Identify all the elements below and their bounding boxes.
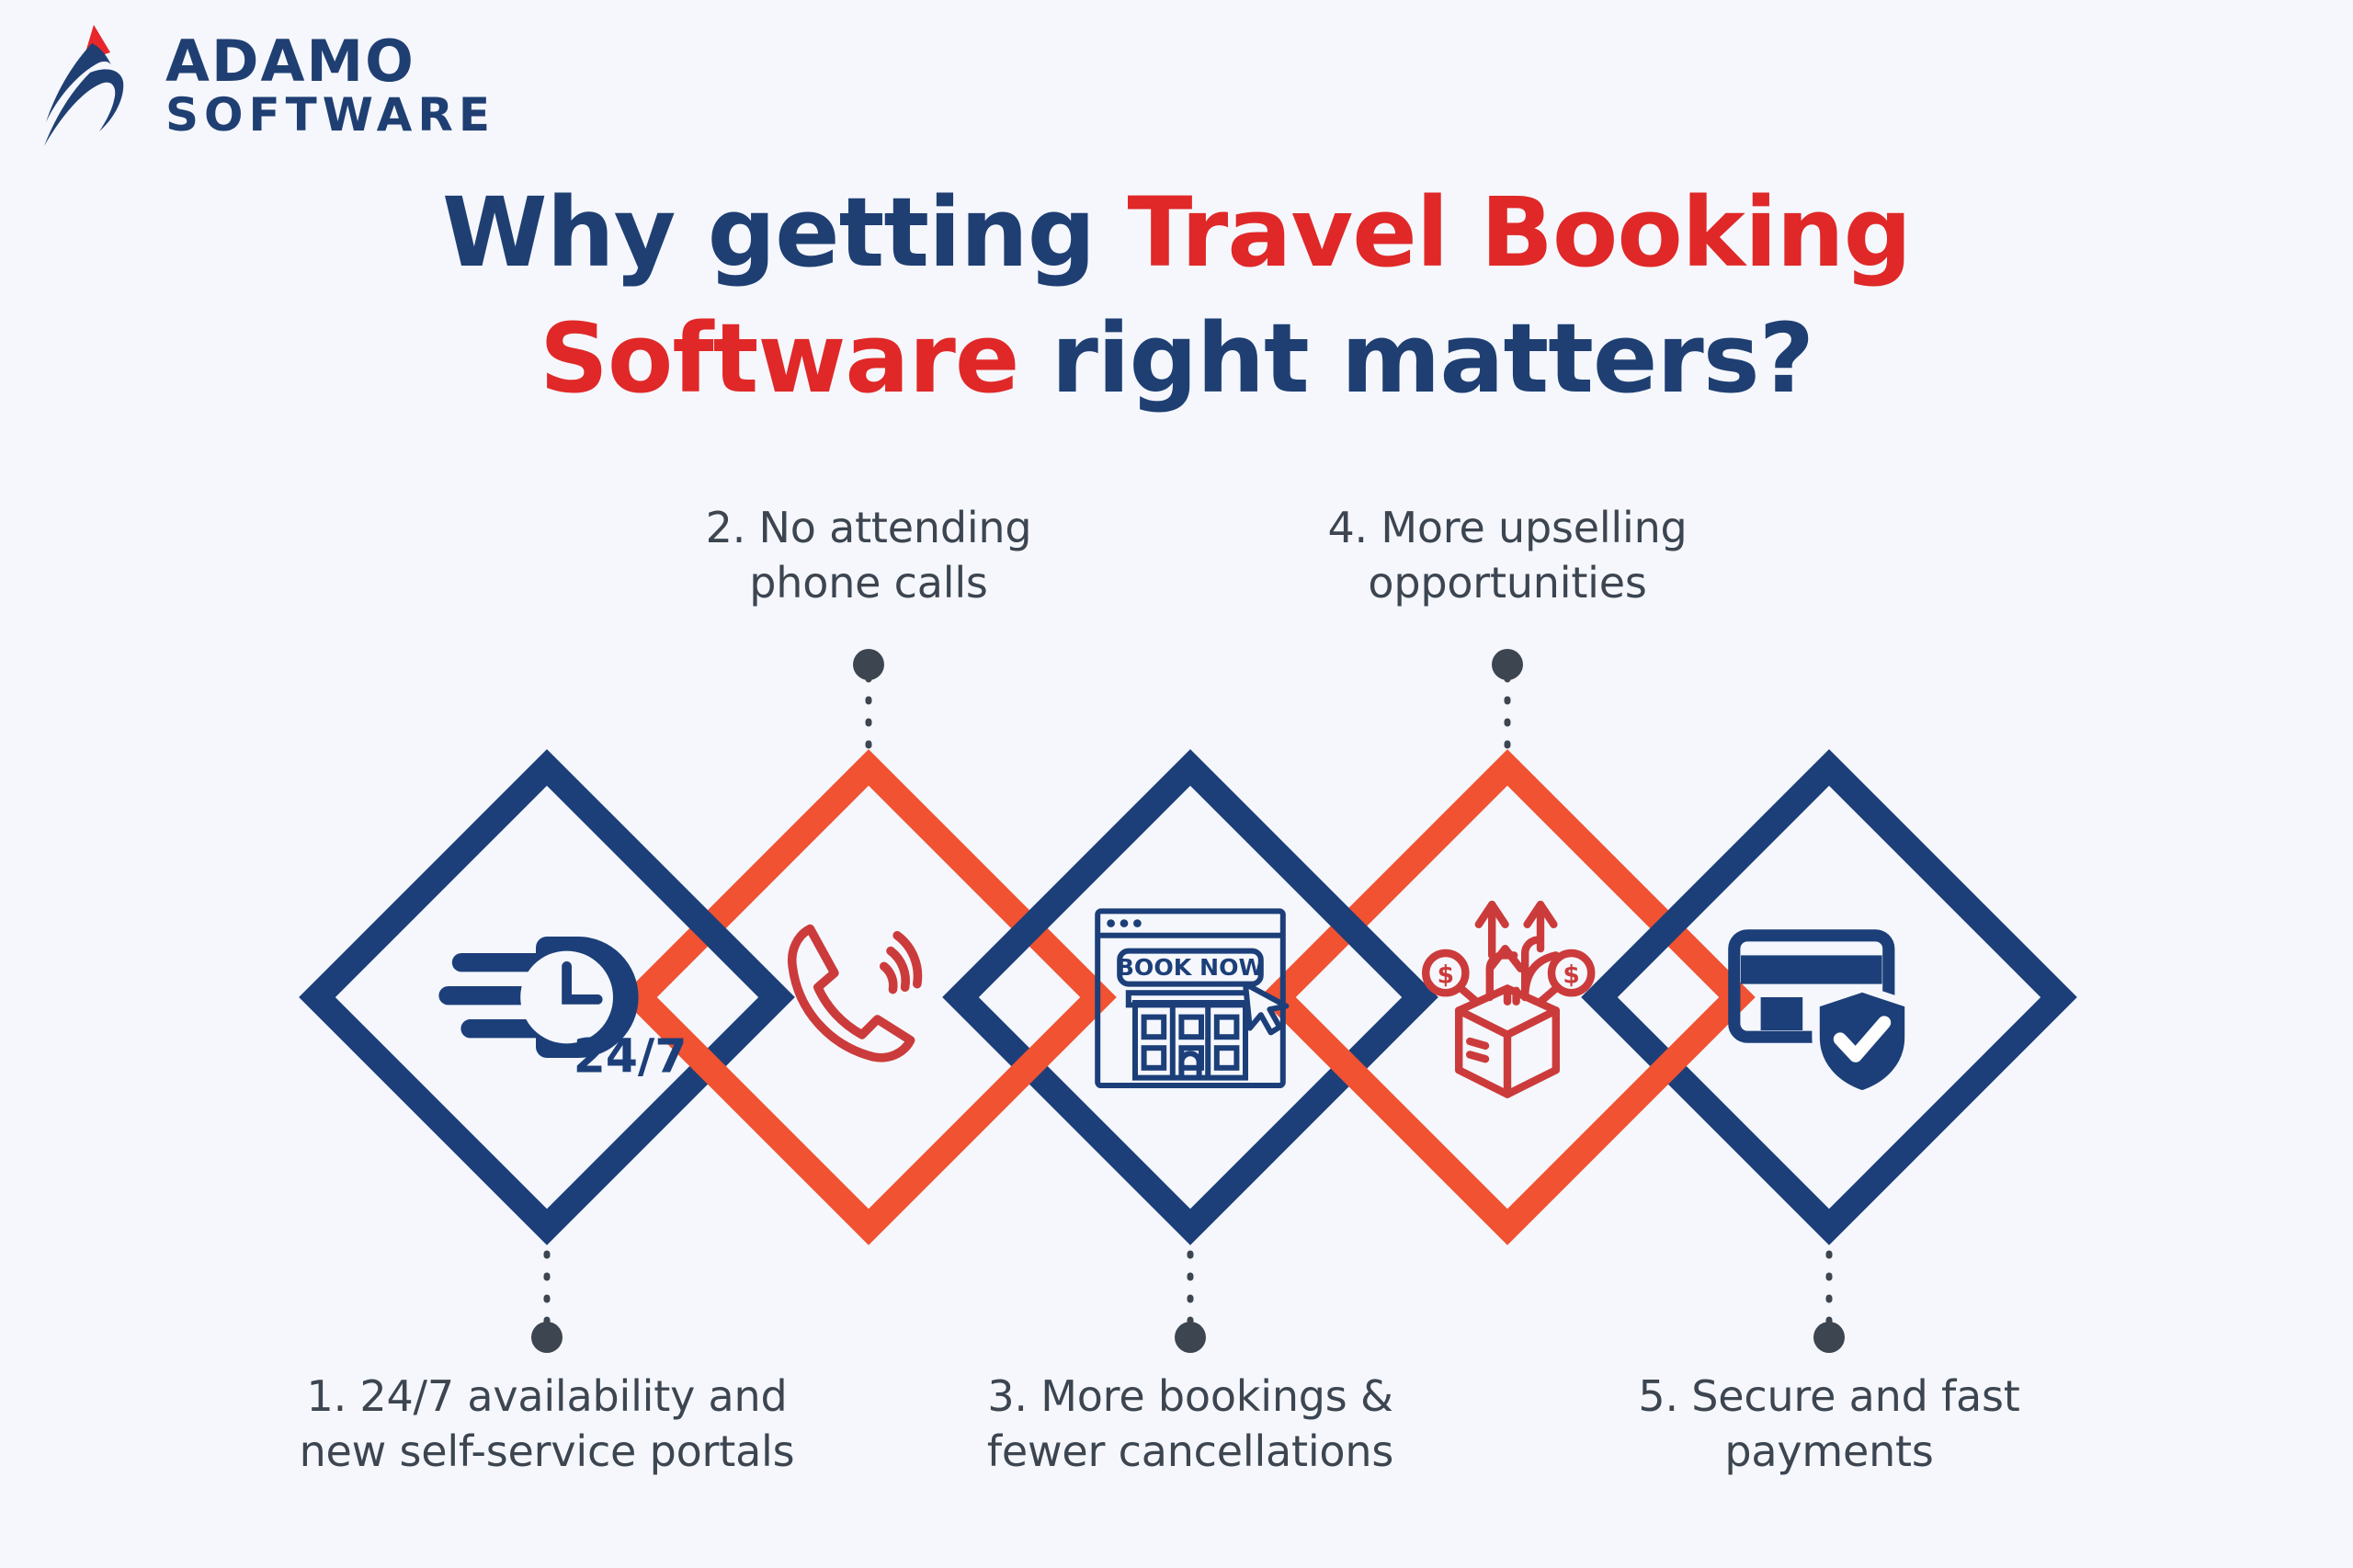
step-label-3-line1: 3. More bookings & [896, 1369, 1484, 1425]
logo-adamo-text: ADAMO [165, 33, 495, 90]
book-now-browser-icon: BOOK NOW [1080, 887, 1301, 1108]
step-label-4-line2: opportunities [1213, 556, 1802, 611]
title-part-4: right matters? [1018, 302, 1813, 415]
logo-software-text: SOFTWARE [165, 92, 495, 138]
step-label-4: 4. More upselling opportunities [1213, 501, 1802, 611]
title-part-1: Why getting [442, 176, 1128, 289]
step-label-2-line2: phone calls [574, 556, 1163, 611]
brand-logo: ADAMO SOFTWARE [37, 17, 515, 154]
clock-24-7-icon: 24/7 [437, 887, 657, 1108]
ringing-phone-icon [758, 887, 979, 1108]
step-label-1: 1. 24/7 availability and new self-servic… [253, 1369, 841, 1480]
step-label-1-line2: new self-service portals [253, 1425, 841, 1480]
secure-card-shield-icon [1719, 887, 1939, 1108]
step-label-5-line1: 5. Secure and fast [1535, 1369, 2123, 1425]
upsell-box-growth-icon: $ $ [1397, 887, 1618, 1108]
title-part-3: Software [540, 302, 1018, 415]
step-label-1-line1: 1. 24/7 availability and [253, 1369, 841, 1425]
title-part-2: Travel Booking [1127, 176, 1911, 289]
connector-dot-3 [1175, 1322, 1206, 1353]
step-label-2-line1: 2. No attending [574, 501, 1163, 556]
book-now-label: BOOK NOW [1117, 954, 1265, 981]
step-label-3: 3. More bookings & fewer cancellations [896, 1369, 1484, 1480]
connector-dot-1 [531, 1322, 563, 1353]
coin-dollar-left: $ [1438, 960, 1454, 989]
connector-dot-5 [1813, 1322, 1845, 1353]
step-label-3-line2: fewer cancellations [896, 1425, 1484, 1480]
coin-dollar-right: $ [1563, 960, 1579, 989]
step-label-4-line1: 4. More upselling [1213, 501, 1802, 556]
step-label-5: 5. Secure and fast payments [1535, 1369, 2123, 1480]
connector-dot-4 [1492, 649, 1523, 680]
page-title: Why getting Travel Booking Software righ… [0, 170, 2353, 423]
svg-text:24/7: 24/7 [574, 1029, 688, 1084]
step-label-2: 2. No attending phone calls [574, 501, 1163, 611]
step-label-5-line2: payments [1535, 1425, 2123, 1480]
connector-dot-2 [853, 649, 884, 680]
adamo-swoosh-icon [37, 21, 145, 150]
